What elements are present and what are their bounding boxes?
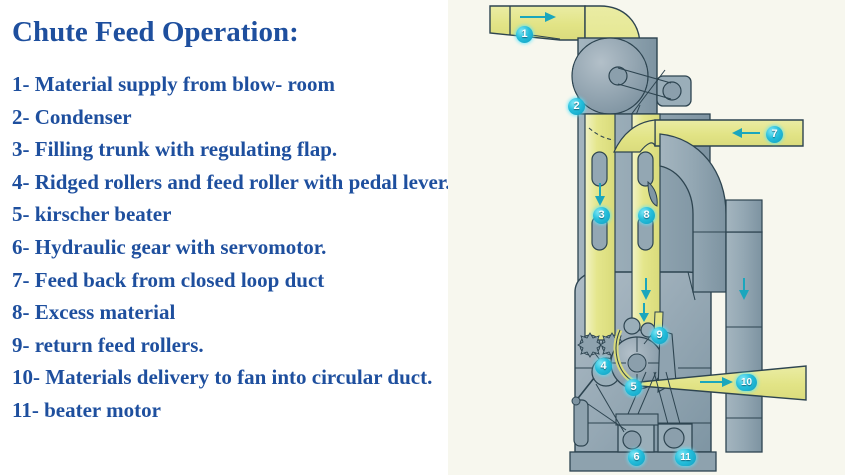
- filling-trunk-group: [585, 114, 615, 360]
- right-duct-column-group: [726, 200, 762, 452]
- callout-3-filling-trunk[interactable]: 3: [593, 207, 610, 224]
- hydraulic-gear-pulley: [623, 431, 641, 449]
- callout-9-return-feed-rollers[interactable]: 9: [651, 327, 668, 344]
- callout-6-hydraulic-gear[interactable]: 6: [628, 449, 645, 466]
- beater-motor-pulley: [664, 428, 684, 448]
- callout-2-condenser[interactable]: 2: [568, 98, 585, 115]
- callout-10-materials-delivery[interactable]: 10: [736, 374, 757, 391]
- screenshot-root: Chute Feed Operation: 1- Material supply…: [0, 0, 845, 475]
- inlet-duct-horizontal: [490, 6, 585, 40]
- return-feed-roller-a: [624, 318, 640, 334]
- callout-4-ridged-rollers[interactable]: 4: [595, 358, 612, 375]
- callout-1-material-supply[interactable]: 1: [516, 26, 533, 43]
- callout-8-excess-material[interactable]: 8: [638, 207, 655, 224]
- excess-chute-sight-glass-upper: [638, 152, 653, 186]
- right-duct-upper-extension: [726, 200, 762, 232]
- chute-feed-machine-diagram: [0, 0, 845, 475]
- pedal-lever-cylinder: [574, 400, 588, 446]
- motor-mount-bracket: [616, 414, 658, 425]
- pedal-lever-pivot: [572, 397, 580, 405]
- filling-trunk-sight-glass-upper: [592, 152, 607, 186]
- kirscher-beater-hub: [628, 354, 646, 372]
- callout-7-feed-back-duct[interactable]: 7: [766, 126, 783, 143]
- callout-11-beater-motor[interactable]: 11: [675, 449, 696, 466]
- right-duct-column: [726, 232, 762, 452]
- callout-5-kirscher-beater[interactable]: 5: [625, 379, 642, 396]
